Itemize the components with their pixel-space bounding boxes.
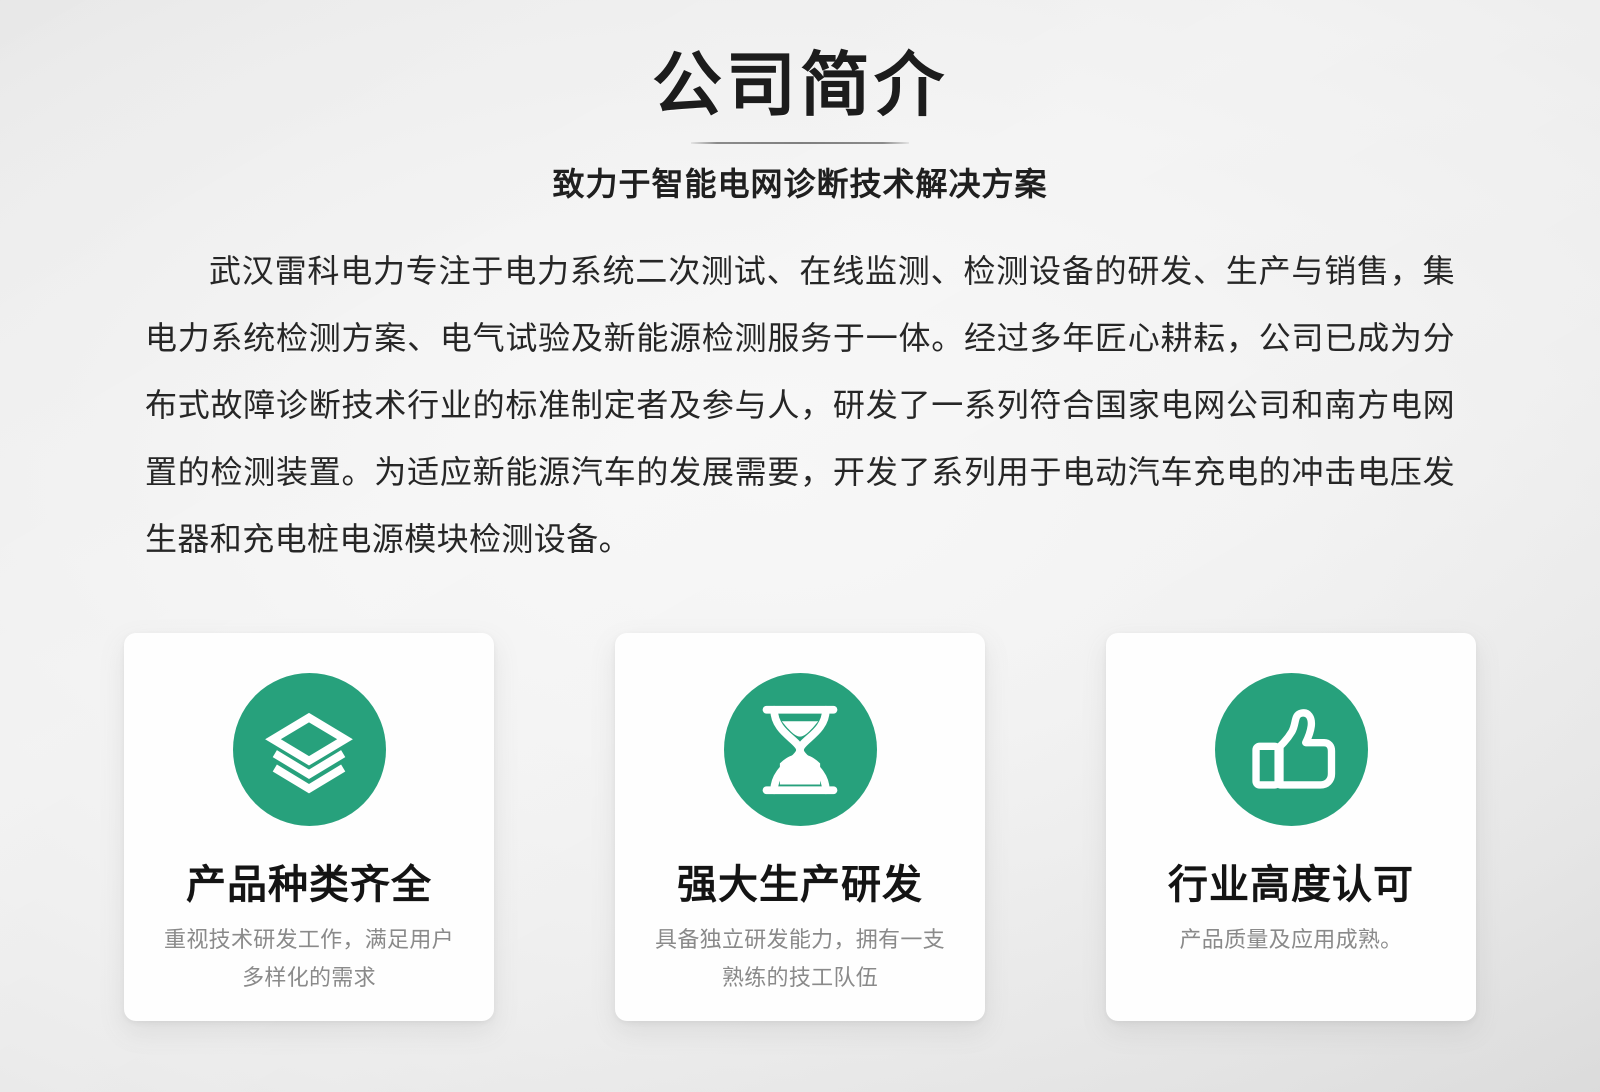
thumbs-up-icon xyxy=(1215,673,1368,826)
feature-card-title: 强大生产研发 xyxy=(677,862,923,908)
feature-card-title: 产品种类齐全 xyxy=(186,862,432,908)
feature-card-description: 产品质量及应用成熟。 xyxy=(1136,922,1446,960)
feature-card[interactable]: 强大生产研发 具备独立研发能力，拥有一支熟练的技工队伍 xyxy=(615,633,985,1021)
feature-card-list: 产品种类齐全 重视技术研发工作，满足用户多样化的需求 强大生产研发 具备独立研发… xyxy=(124,633,1476,1021)
feature-card-description: 重视技术研发工作，满足用户多样化的需求 xyxy=(154,922,464,998)
page-subtitle: 致力于智能电网诊断技术解决方案 xyxy=(0,164,1600,204)
hourglass-icon xyxy=(724,673,877,826)
company-profile-section: 公司简介 致力于智能电网诊断技术解决方案 武汉雷科电力专注于电力系统二次测试、在… xyxy=(0,0,1600,1092)
page-title: 公司简介 xyxy=(0,44,1600,126)
feature-card[interactable]: 产品种类齐全 重视技术研发工作，满足用户多样化的需求 xyxy=(124,633,494,1021)
feature-card-description: 具备独立研发能力，拥有一支熟练的技工队伍 xyxy=(645,922,955,998)
layers-icon xyxy=(233,673,386,826)
feature-card-title: 行业高度认可 xyxy=(1168,862,1414,908)
company-intro-paragraph: 武汉雷科电力专注于电力系统二次测试、在线监测、检测设备的研发、生产与销售，集电力… xyxy=(145,238,1455,573)
feature-card[interactable]: 行业高度认可 产品质量及应用成熟。 xyxy=(1106,633,1476,1021)
title-divider xyxy=(691,142,909,144)
section-header: 公司简介 致力于智能电网诊断技术解决方案 xyxy=(0,0,1600,204)
